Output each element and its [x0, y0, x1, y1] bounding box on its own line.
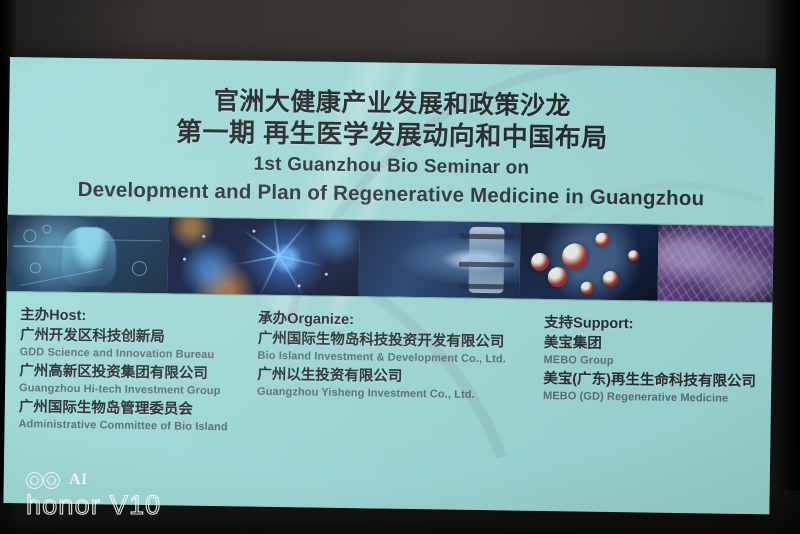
strip-panel-neuron [167, 217, 360, 296]
schematic-circle [132, 261, 147, 276]
red-blood-cell [580, 281, 593, 294]
biotech-image-strip [7, 215, 774, 302]
red-blood-cell [531, 253, 549, 271]
cyber-human-figure [61, 226, 117, 286]
strip-panel-bioreactor [359, 220, 521, 298]
red-blood-cell [561, 243, 587, 269]
support-org-1-en: MEBO Group [543, 353, 771, 371]
strip-panel-cyber-human [7, 215, 169, 293]
bioreactor-band [459, 284, 514, 290]
schematic-line [14, 245, 78, 247]
organize-org-2-en: Guangzhou Yisheng Investment Co., Ltd. [257, 385, 547, 404]
bioreactor-band [459, 261, 514, 267]
organize-org-1-en: Bio Island Investment & Development Co.,… [257, 349, 547, 368]
host-heading: 主办Host: [20, 305, 265, 329]
credits-column-organize: 承办Organize: 广州国际生物岛科技投资开发有限公司 Bio Island… [257, 309, 548, 406]
neuron-spark [325, 273, 328, 276]
credits-block: 主办Host: 广州开发区科技创新局 GDD Science and Innov… [4, 305, 772, 446]
neuron-dendrite [241, 229, 279, 258]
neuron-spark [183, 257, 186, 260]
neuron-spark [253, 229, 256, 232]
host-org-1-en: GDD Science and Innovation Bureau [20, 345, 265, 364]
strip-panel-neural-tissue [658, 225, 774, 303]
red-blood-cell [595, 233, 609, 247]
schematic-circle [43, 225, 52, 234]
projection-screen: 官洲大健康产业发展和政策沙龙 第一期 再生医学发展动向和中国布局 1st Gua… [3, 57, 776, 514]
bioreactor-band [459, 234, 514, 240]
photo-canvas: 官洲大健康产业发展和政策沙龙 第一期 再生医学发展动向和中国布局 1st Gua… [0, 0, 800, 534]
support-heading: 支持Support: [544, 313, 772, 336]
schematic-circle [23, 229, 36, 242]
neuron-dendrite [258, 256, 280, 296]
host-org-2-en: Guangzhou Hi-tech Investment Group [19, 381, 264, 400]
red-blood-cell [547, 267, 567, 287]
red-blood-cell [603, 271, 619, 287]
credits-column-host: 主办Host: 广州开发区科技创新局 GDD Science and Innov… [18, 305, 265, 438]
red-blood-cell [628, 250, 639, 261]
neuron-dendrite [278, 221, 310, 257]
slide-title-block: 官洲大健康产业发展和政策沙龙 第一期 再生医学发展动向和中国布局 1st Gua… [8, 83, 776, 212]
presentation-slide: 官洲大健康产业发展和政策沙龙 第一期 再生医学发展动向和中国布局 1st Gua… [3, 57, 776, 514]
strip-panel-blood-cells [520, 223, 659, 301]
neuron-spark [203, 235, 206, 238]
neuron-spark [298, 285, 301, 288]
schematic-circle [29, 262, 40, 273]
host-org-3-en: Administrative Committee of Bio Island [18, 417, 263, 436]
credits-column-support: 支持Support: 美宝集团 MEBO Group 美宝(广东)再生生命科技有… [543, 313, 772, 409]
